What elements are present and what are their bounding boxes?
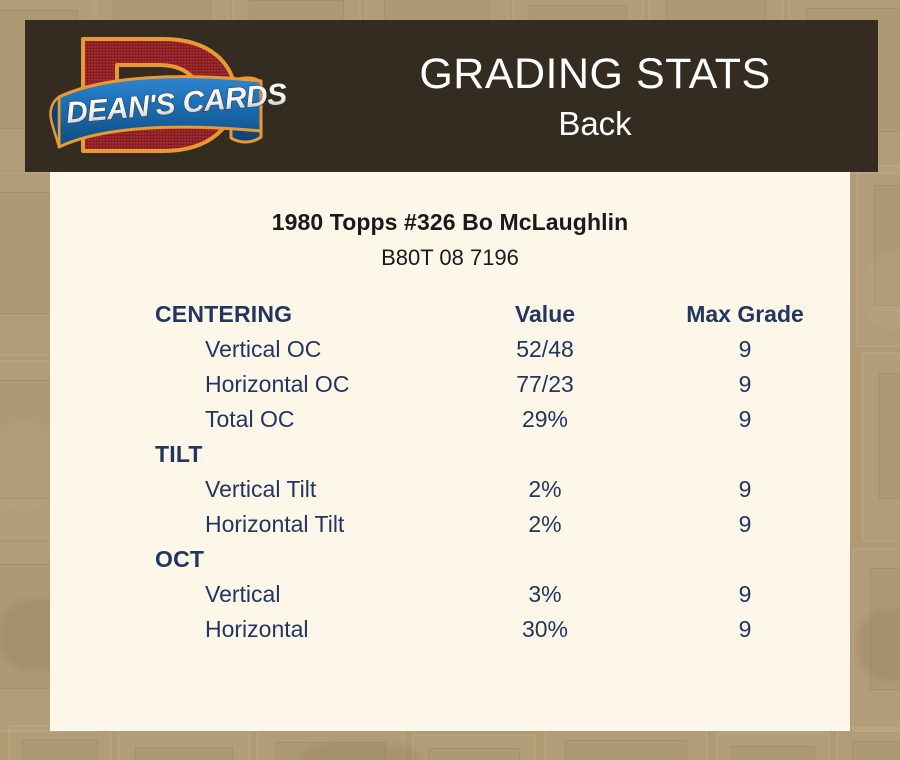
content-panel: 1980 Topps #326 Bo McLaughlin B80T 08 71… [50,172,850,731]
grading-stats-table: CENTERING Value Max Grade Vertical OC52/… [50,297,850,647]
stat-max-grade: 9 [640,472,850,507]
table-header-row: CENTERING Value Max Grade [50,297,850,332]
stat-label: Total OC [50,402,450,437]
stat-max-grade: 9 [640,367,850,402]
table-row: Vertical OC52/489 [50,332,850,367]
header-title-block: GRADING STATS Back [315,48,875,146]
stat-value: 30% [450,612,640,647]
stat-max-grade: 9 [640,332,850,367]
stat-value: 29% [450,402,640,437]
background-card-tile [544,726,708,760]
table-row: Horizontal Tilt2%9 [50,507,850,542]
table-row: Vertical3%9 [50,577,850,612]
stat-label: Horizontal [50,612,450,647]
stat-label: Horizontal Tilt [50,507,450,542]
section-header-row: OCT [50,542,850,577]
background-card-tile [862,352,900,542]
background-card-tile [412,734,536,760]
card-title: 1980 Topps #326 Bo McLaughlin [50,209,850,236]
stats-table-head: CENTERING Value Max Grade [50,297,850,332]
stat-value: 3% [450,577,640,612]
background-texture-blotch [858,610,900,680]
background-texture-blotch [300,742,420,760]
header-bar: DEAN'S CARDS GRADING STATS Back [25,20,878,172]
stat-label: Vertical [50,577,450,612]
card-serial-number: B80T 08 7196 [50,245,850,271]
column-header-max-grade: Max Grade [640,297,850,332]
stat-max-grade: 9 [640,612,850,647]
stat-label: Horizontal OC [50,367,450,402]
section-header-grade-spacer [640,542,850,577]
stat-max-grade: 9 [640,577,850,612]
stat-value: 2% [450,507,640,542]
section-header-value-spacer [450,542,640,577]
page-title: GRADING STATS [315,48,875,100]
background-card-tile [118,733,250,760]
section-header-label: OCT [50,542,450,577]
table-row: Horizontal OC77/239 [50,367,850,402]
deans-cards-logo[interactable]: DEAN'S CARDS [45,25,310,165]
section-header-row: TILT [50,437,850,472]
stat-max-grade: 9 [640,507,850,542]
stat-value: 77/23 [450,367,640,402]
background-card-tile [716,732,830,760]
table-row: Vertical Tilt2%9 [50,472,850,507]
section-header-grade-spacer [640,437,850,472]
stat-value: 2% [450,472,640,507]
column-header-value: Value [450,297,640,332]
section-header-label: TILT [50,437,450,472]
deans-cards-logo-graphic: DEAN'S CARDS [45,25,310,165]
stat-value: 52/48 [450,332,640,367]
table-row: Total OC29%9 [50,402,850,437]
table-row: Horizontal30%9 [50,612,850,647]
page-subtitle: Back [315,102,875,146]
stat-label: Vertical OC [50,332,450,367]
background-card-tile [836,727,900,760]
section-header-value-spacer [450,437,640,472]
stat-max-grade: 9 [640,402,850,437]
stats-table-body: Vertical OC52/489Horizontal OC77/239Tota… [50,332,850,647]
stat-label: Vertical Tilt [50,472,450,507]
column-header-centering: CENTERING [50,297,450,332]
